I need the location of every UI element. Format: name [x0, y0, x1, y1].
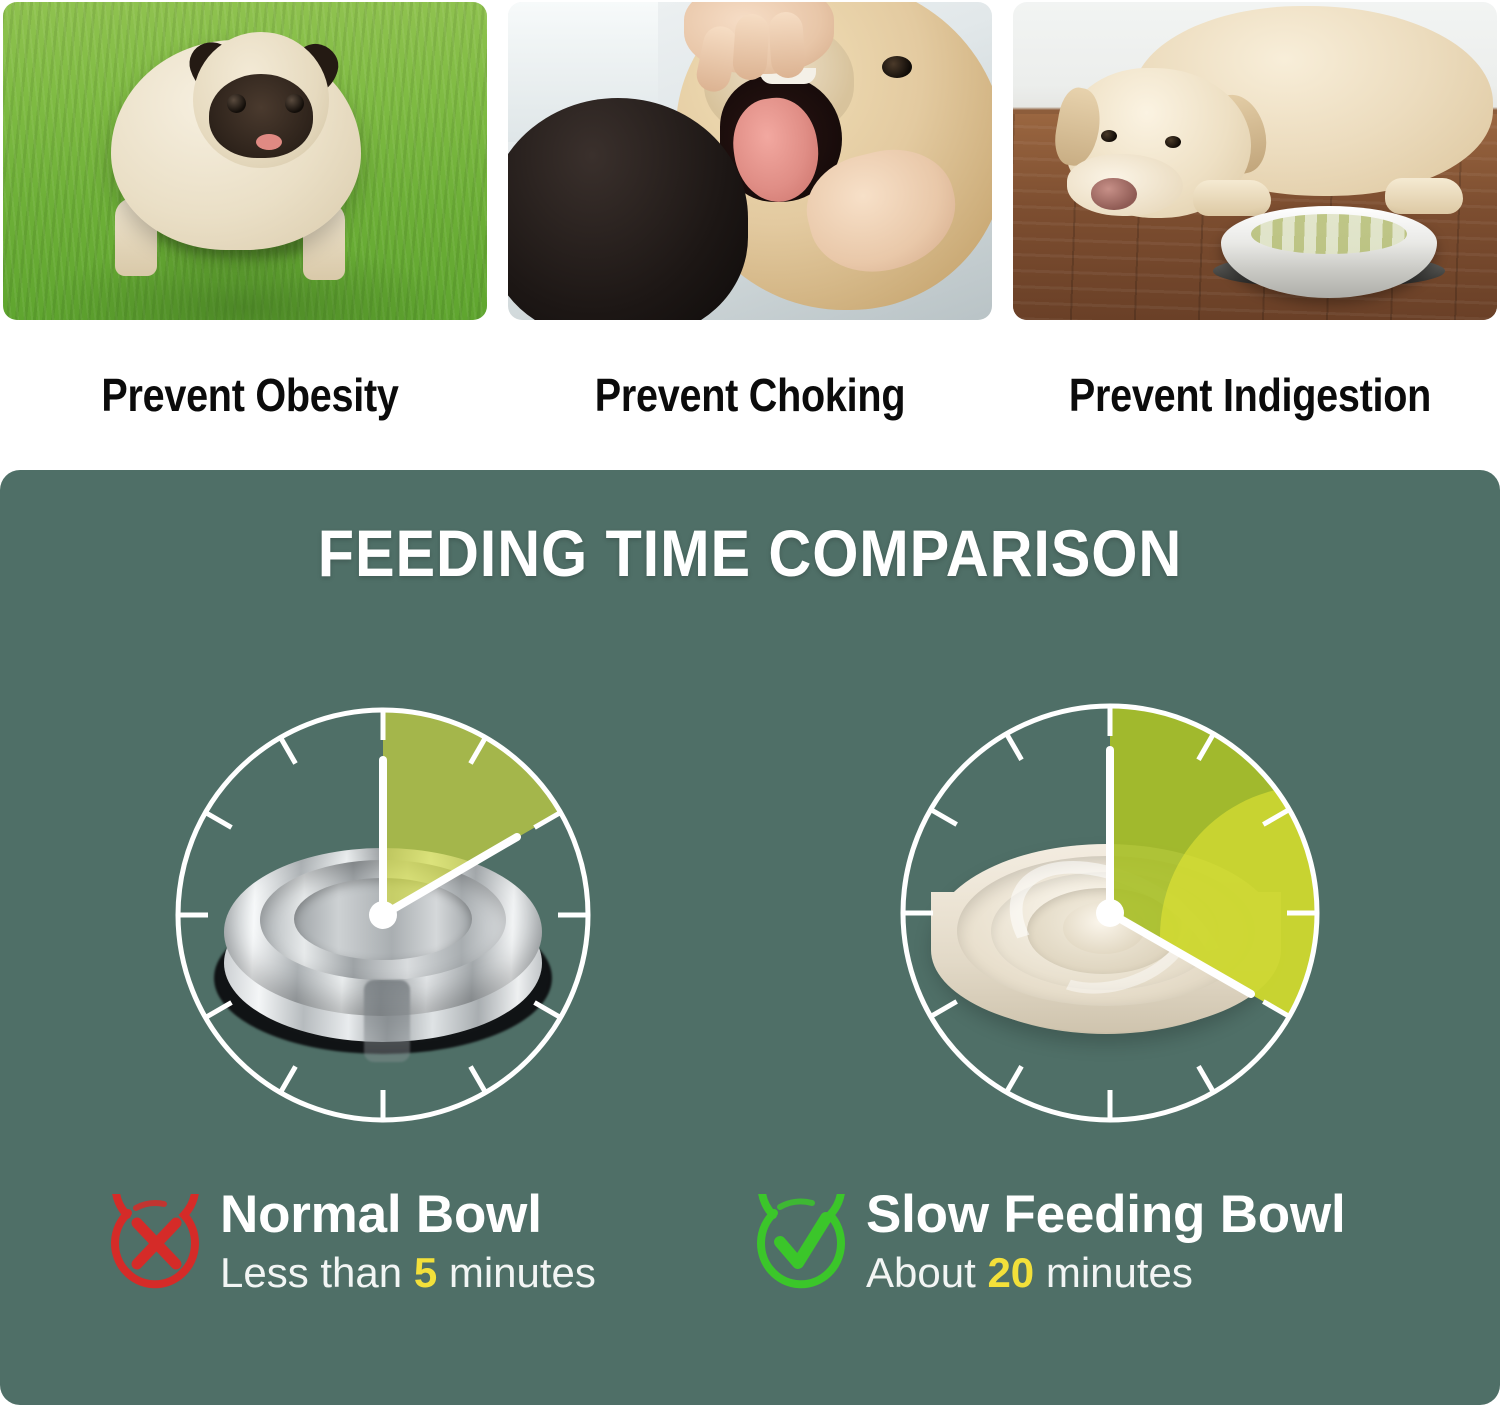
photo-captions: Prevent Obesity Prevent Choking Prevent … — [0, 340, 1500, 450]
page-title: FEEDING TIME COMPARISON — [75, 515, 1425, 591]
wedge-left — [383, 710, 561, 915]
labrador-eye-right — [1165, 136, 1181, 148]
label-normal-bowl-text: Normal Bowl Less than 5 minutes — [220, 1188, 596, 1300]
pug-tongue — [256, 134, 282, 150]
label-slow-bowl-text: Slow Feeding Bowl About 20 minutes — [866, 1188, 1346, 1300]
clock-hub-right — [1096, 899, 1124, 927]
label-slow-bowl-title: Slow Feeding Bowl — [866, 1188, 1346, 1241]
normal-sub-value: 5 — [414, 1249, 437, 1296]
caption-prevent-obesity: Prevent Obesity — [35, 340, 465, 450]
clock-hub-left — [369, 901, 397, 929]
photo-strip — [0, 0, 1500, 330]
finger-2 — [732, 13, 771, 81]
wood-floor-background — [1013, 2, 1497, 320]
label-normal-bowl-subtitle: Less than 5 minutes — [220, 1247, 596, 1300]
clock-dial-left — [170, 702, 596, 1128]
slow-sub-prefix: About — [866, 1249, 976, 1296]
label-normal-bowl-title: Normal Bowl — [220, 1188, 596, 1241]
slow-sub-value: 20 — [987, 1249, 1034, 1296]
choking-photo — [508, 2, 992, 320]
label-slow-bowl-subtitle: About 20 minutes — [866, 1247, 1346, 1300]
label-slow-bowl: Slow Feeding Bowl About 20 minutes — [752, 1188, 1346, 1300]
labrador-nose — [1091, 178, 1137, 210]
normal-sub-suffix: minutes — [449, 1249, 596, 1296]
labrador-paw-rear — [1385, 178, 1463, 214]
indigestion-photo — [1013, 2, 1497, 320]
clock-normal-bowl — [170, 702, 596, 1128]
comparison-panel: FEEDING TIME COMPARISON — [0, 470, 1500, 1405]
indoor-background — [508, 2, 992, 320]
caption-prevent-indigestion: Prevent Indigestion — [1035, 340, 1465, 450]
pug-eye-right — [285, 94, 304, 113]
slow-sub-suffix: minutes — [1046, 1249, 1193, 1296]
obesity-photo — [3, 2, 487, 320]
clock-dial-right — [895, 698, 1325, 1128]
check-mark-icon — [752, 1194, 852, 1294]
photo-bowl-food — [1251, 214, 1407, 254]
finger-3 — [768, 11, 807, 79]
label-normal-bowl: Normal Bowl Less than 5 minutes — [106, 1188, 596, 1300]
clock-slow-bowl — [895, 698, 1325, 1128]
cross-mark-icon — [106, 1194, 206, 1294]
normal-sub-prefix: Less than — [220, 1249, 402, 1296]
pug-eye-left — [227, 94, 246, 113]
labrador-eye-left — [1101, 130, 1117, 142]
retriever-eye — [882, 56, 912, 78]
grass-background — [3, 2, 487, 320]
caption-prevent-choking: Prevent Choking — [535, 340, 965, 450]
labrador-paw-front — [1193, 180, 1271, 216]
